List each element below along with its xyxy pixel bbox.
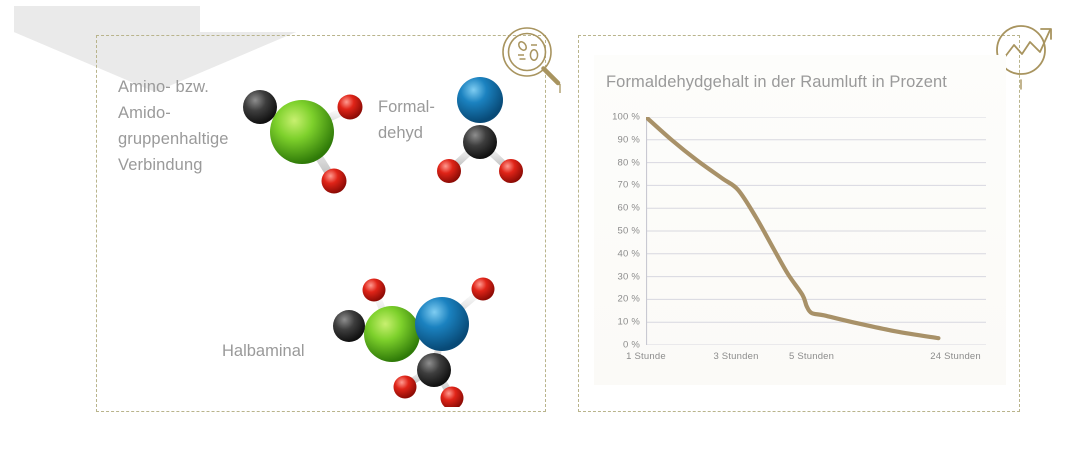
amino-compound-molecule (232, 82, 372, 197)
green-atom (364, 306, 420, 362)
dark-atom (333, 310, 365, 342)
series-line (646, 117, 938, 338)
y-axis-tick: 0 % (594, 340, 640, 351)
red-atom (322, 169, 347, 194)
infographic-stage: Amino- bzw.Amido-gruppenhaltigeVerbindun… (0, 0, 1080, 462)
y-axis-tick: 90 % (594, 134, 640, 145)
y-axis-tick: 70 % (594, 180, 640, 191)
red-atom (338, 95, 363, 120)
blue-atom (415, 297, 469, 351)
blue-atom (457, 77, 503, 123)
green-atom (270, 100, 334, 164)
red-atom (363, 279, 386, 302)
red-atom (394, 376, 417, 399)
y-axis-tick: 60 % (594, 203, 640, 214)
red-atom (437, 159, 461, 183)
dark-atom (417, 353, 451, 387)
red-atom (472, 278, 495, 301)
y-axis-tick: 80 % (594, 157, 640, 168)
x-axis-labels: 1 Stunde3 Stunden5 Stunden24 Stunden (646, 351, 1006, 371)
x-axis-tick: 5 Stunden (789, 351, 834, 362)
y-axis-tick: 20 % (594, 294, 640, 305)
chart-card: Formaldehydgehalt in der Raumluft in Pro… (594, 55, 1006, 385)
y-axis-labels: 100 %90 %80 %70 %60 %50 %40 %30 %20 %10 … (594, 117, 640, 345)
dark-atom (463, 125, 497, 159)
dark-atom (243, 90, 277, 124)
y-axis-tick: 100 % (594, 112, 640, 123)
x-axis-tick: 24 Stunden (930, 351, 981, 362)
plot-area (646, 117, 986, 345)
red-atom (499, 159, 523, 183)
x-axis-tick: 1 Stunde (626, 351, 666, 362)
halbaminal-molecule (320, 272, 505, 407)
y-axis-tick: 10 % (594, 317, 640, 328)
formaldehyde-molecule (432, 70, 528, 190)
y-axis-tick: 40 % (594, 248, 640, 259)
chart-title: Formaldehydgehalt in der Raumluft in Pro… (606, 73, 947, 92)
y-axis-tick: 50 % (594, 226, 640, 237)
chart-plot-svg (646, 117, 986, 345)
x-axis-tick: 3 Stunden (713, 351, 758, 362)
y-axis-tick: 30 % (594, 271, 640, 282)
